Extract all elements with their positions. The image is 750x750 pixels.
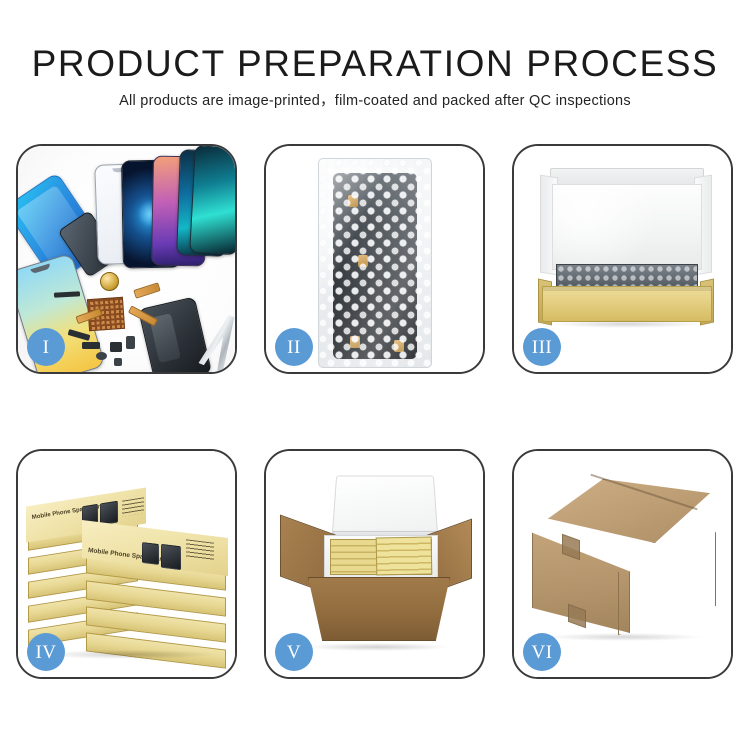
lid-screen-image-front-b (161, 544, 181, 570)
drop-shadow (552, 320, 702, 328)
sealed-shipping-carton (530, 479, 718, 643)
step-panel-4: Mobile Phone Spare Parts Mobile Phone Sp… (16, 449, 237, 679)
step-panel-2: II (264, 144, 485, 374)
lid-screen-image-front-a (142, 542, 159, 565)
step-badge-6: VI (523, 633, 561, 671)
sim-tray-part (126, 336, 135, 349)
product-preparation-infographic: PRODUCT PREPARATION PROCESS All products… (0, 0, 750, 750)
open-kraft-box (538, 164, 714, 340)
header: PRODUCT PREPARATION PROCESS All products… (0, 44, 750, 110)
lid-spec-text-front (186, 539, 214, 560)
step-badge-1: I (27, 328, 65, 366)
open-shipping-carton (280, 473, 472, 657)
foam-lid-open (332, 476, 439, 538)
carton-top-face (548, 479, 710, 543)
page-subtitle: All products are image-printed，film-coat… (0, 92, 750, 110)
screw-part (114, 358, 122, 366)
carton-body (308, 577, 450, 641)
battery-connector-part (82, 342, 100, 349)
plastic-sheen (319, 159, 431, 367)
carton-right-face (618, 523, 716, 635)
bubble-wrap-bag (318, 158, 432, 368)
step-badge-4: IV (27, 633, 65, 671)
yellow-boxes-stack-b (376, 537, 433, 576)
drop-shadow (42, 650, 214, 659)
vibrator-part (96, 352, 107, 360)
step-panel-5: V (264, 449, 485, 679)
step-badge-3: III (523, 328, 561, 366)
box-front-panel (542, 286, 712, 322)
drop-shadow (546, 633, 702, 641)
phone-teal-gradient (189, 146, 235, 255)
step-panel-6: VI (512, 449, 733, 679)
page-title: PRODUCT PREPARATION PROCESS (0, 44, 750, 84)
step-badge-5: V (275, 633, 313, 671)
process-steps-grid: I II (16, 144, 734, 679)
step-panel-3: III (512, 144, 733, 374)
step-panel-1: I (16, 144, 237, 374)
speaker-module-part (100, 272, 119, 291)
stacked-retail-boxes: Mobile Phone Spare Parts Mobile Phone Sp… (24, 471, 230, 661)
drop-shadow (306, 643, 448, 651)
step-badge-2: II (275, 328, 313, 366)
white-foam-insert (552, 184, 702, 270)
camera-module-part (110, 342, 122, 352)
